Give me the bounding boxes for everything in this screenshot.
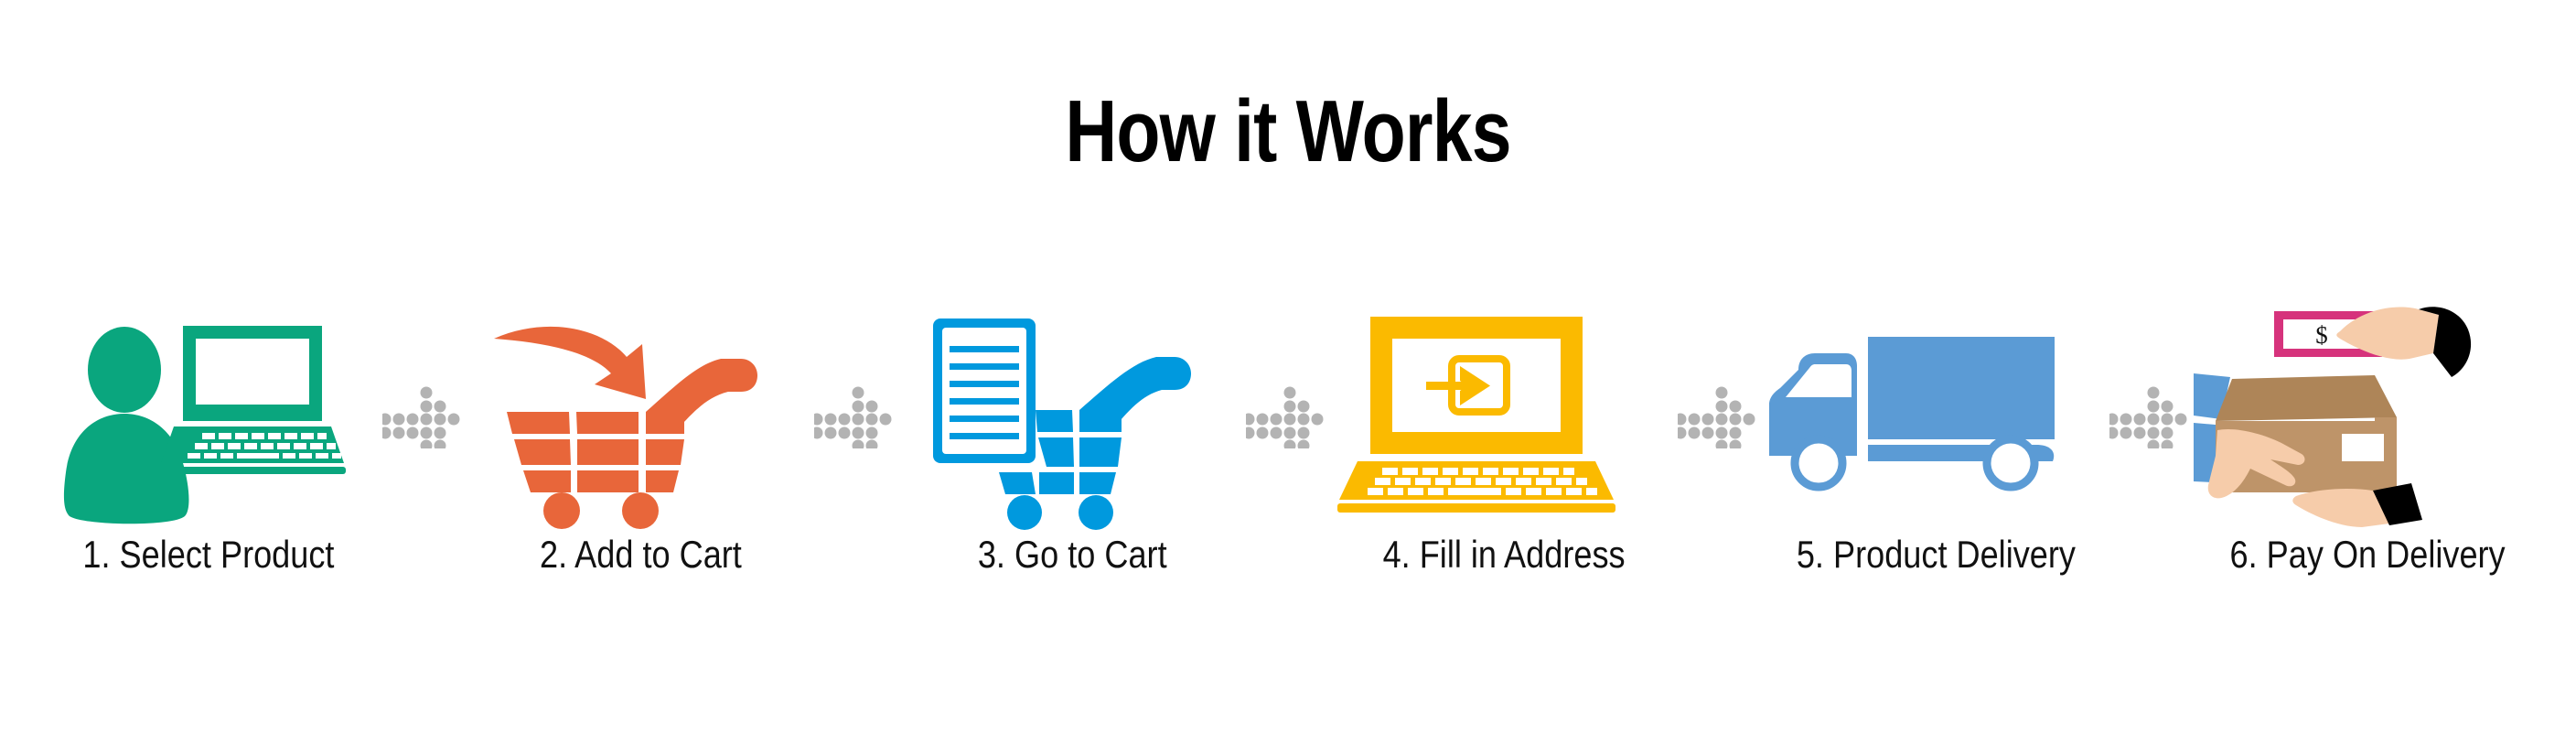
delivery-truck-icon bbox=[1762, 302, 2109, 531]
hands-exchanging-box-and-money-icon: $ bbox=[2194, 302, 2541, 531]
step-2-label: 2. Add to Cart bbox=[540, 534, 742, 575]
shopping-cart-with-curved-arrow-icon bbox=[467, 302, 814, 531]
step-6-pay-on-delivery[interactable]: $ bbox=[2194, 302, 2541, 632]
how-it-works-infographic: How it Works bbox=[0, 0, 2576, 745]
step-3-label: 3. Go to Cart bbox=[978, 534, 1167, 575]
dotted-arrow-right-icon-3 bbox=[1246, 302, 1330, 531]
step-5-label: 5. Product Delivery bbox=[1796, 534, 2075, 575]
dotted-arrow-right-icon-5 bbox=[2109, 302, 2194, 531]
dotted-arrow-right-icon-2 bbox=[814, 302, 898, 531]
step-1-select-product[interactable]: 1. Select Product bbox=[35, 302, 382, 632]
page-title: How it Works bbox=[231, 88, 2344, 176]
step-6-label: 6. Pay On Delivery bbox=[2229, 534, 2505, 575]
svg-text:$: $ bbox=[2315, 321, 2328, 349]
step-1-label: 1. Select Product bbox=[82, 534, 334, 575]
steps-row: 1. Select Product bbox=[0, 302, 2576, 632]
step-3-go-to-cart[interactable]: 3. Go to Cart bbox=[898, 302, 1246, 632]
step-2-add-to-cart[interactable]: 2. Add to Cart bbox=[467, 302, 814, 632]
step-5-product-delivery[interactable]: 5. Product Delivery bbox=[1762, 302, 2109, 632]
step-4-label: 4. Fill in Address bbox=[1382, 534, 1625, 575]
dotted-arrow-right-icon-1 bbox=[382, 302, 467, 531]
step-4-fill-in-address[interactable]: 4. Fill in Address bbox=[1330, 302, 1678, 632]
dotted-arrow-right-icon-4 bbox=[1678, 302, 1762, 531]
person-with-laptop-icon bbox=[35, 302, 382, 531]
laptop-with-login-arrow-icon bbox=[1330, 302, 1678, 531]
document-with-cart-icon bbox=[898, 302, 1246, 531]
